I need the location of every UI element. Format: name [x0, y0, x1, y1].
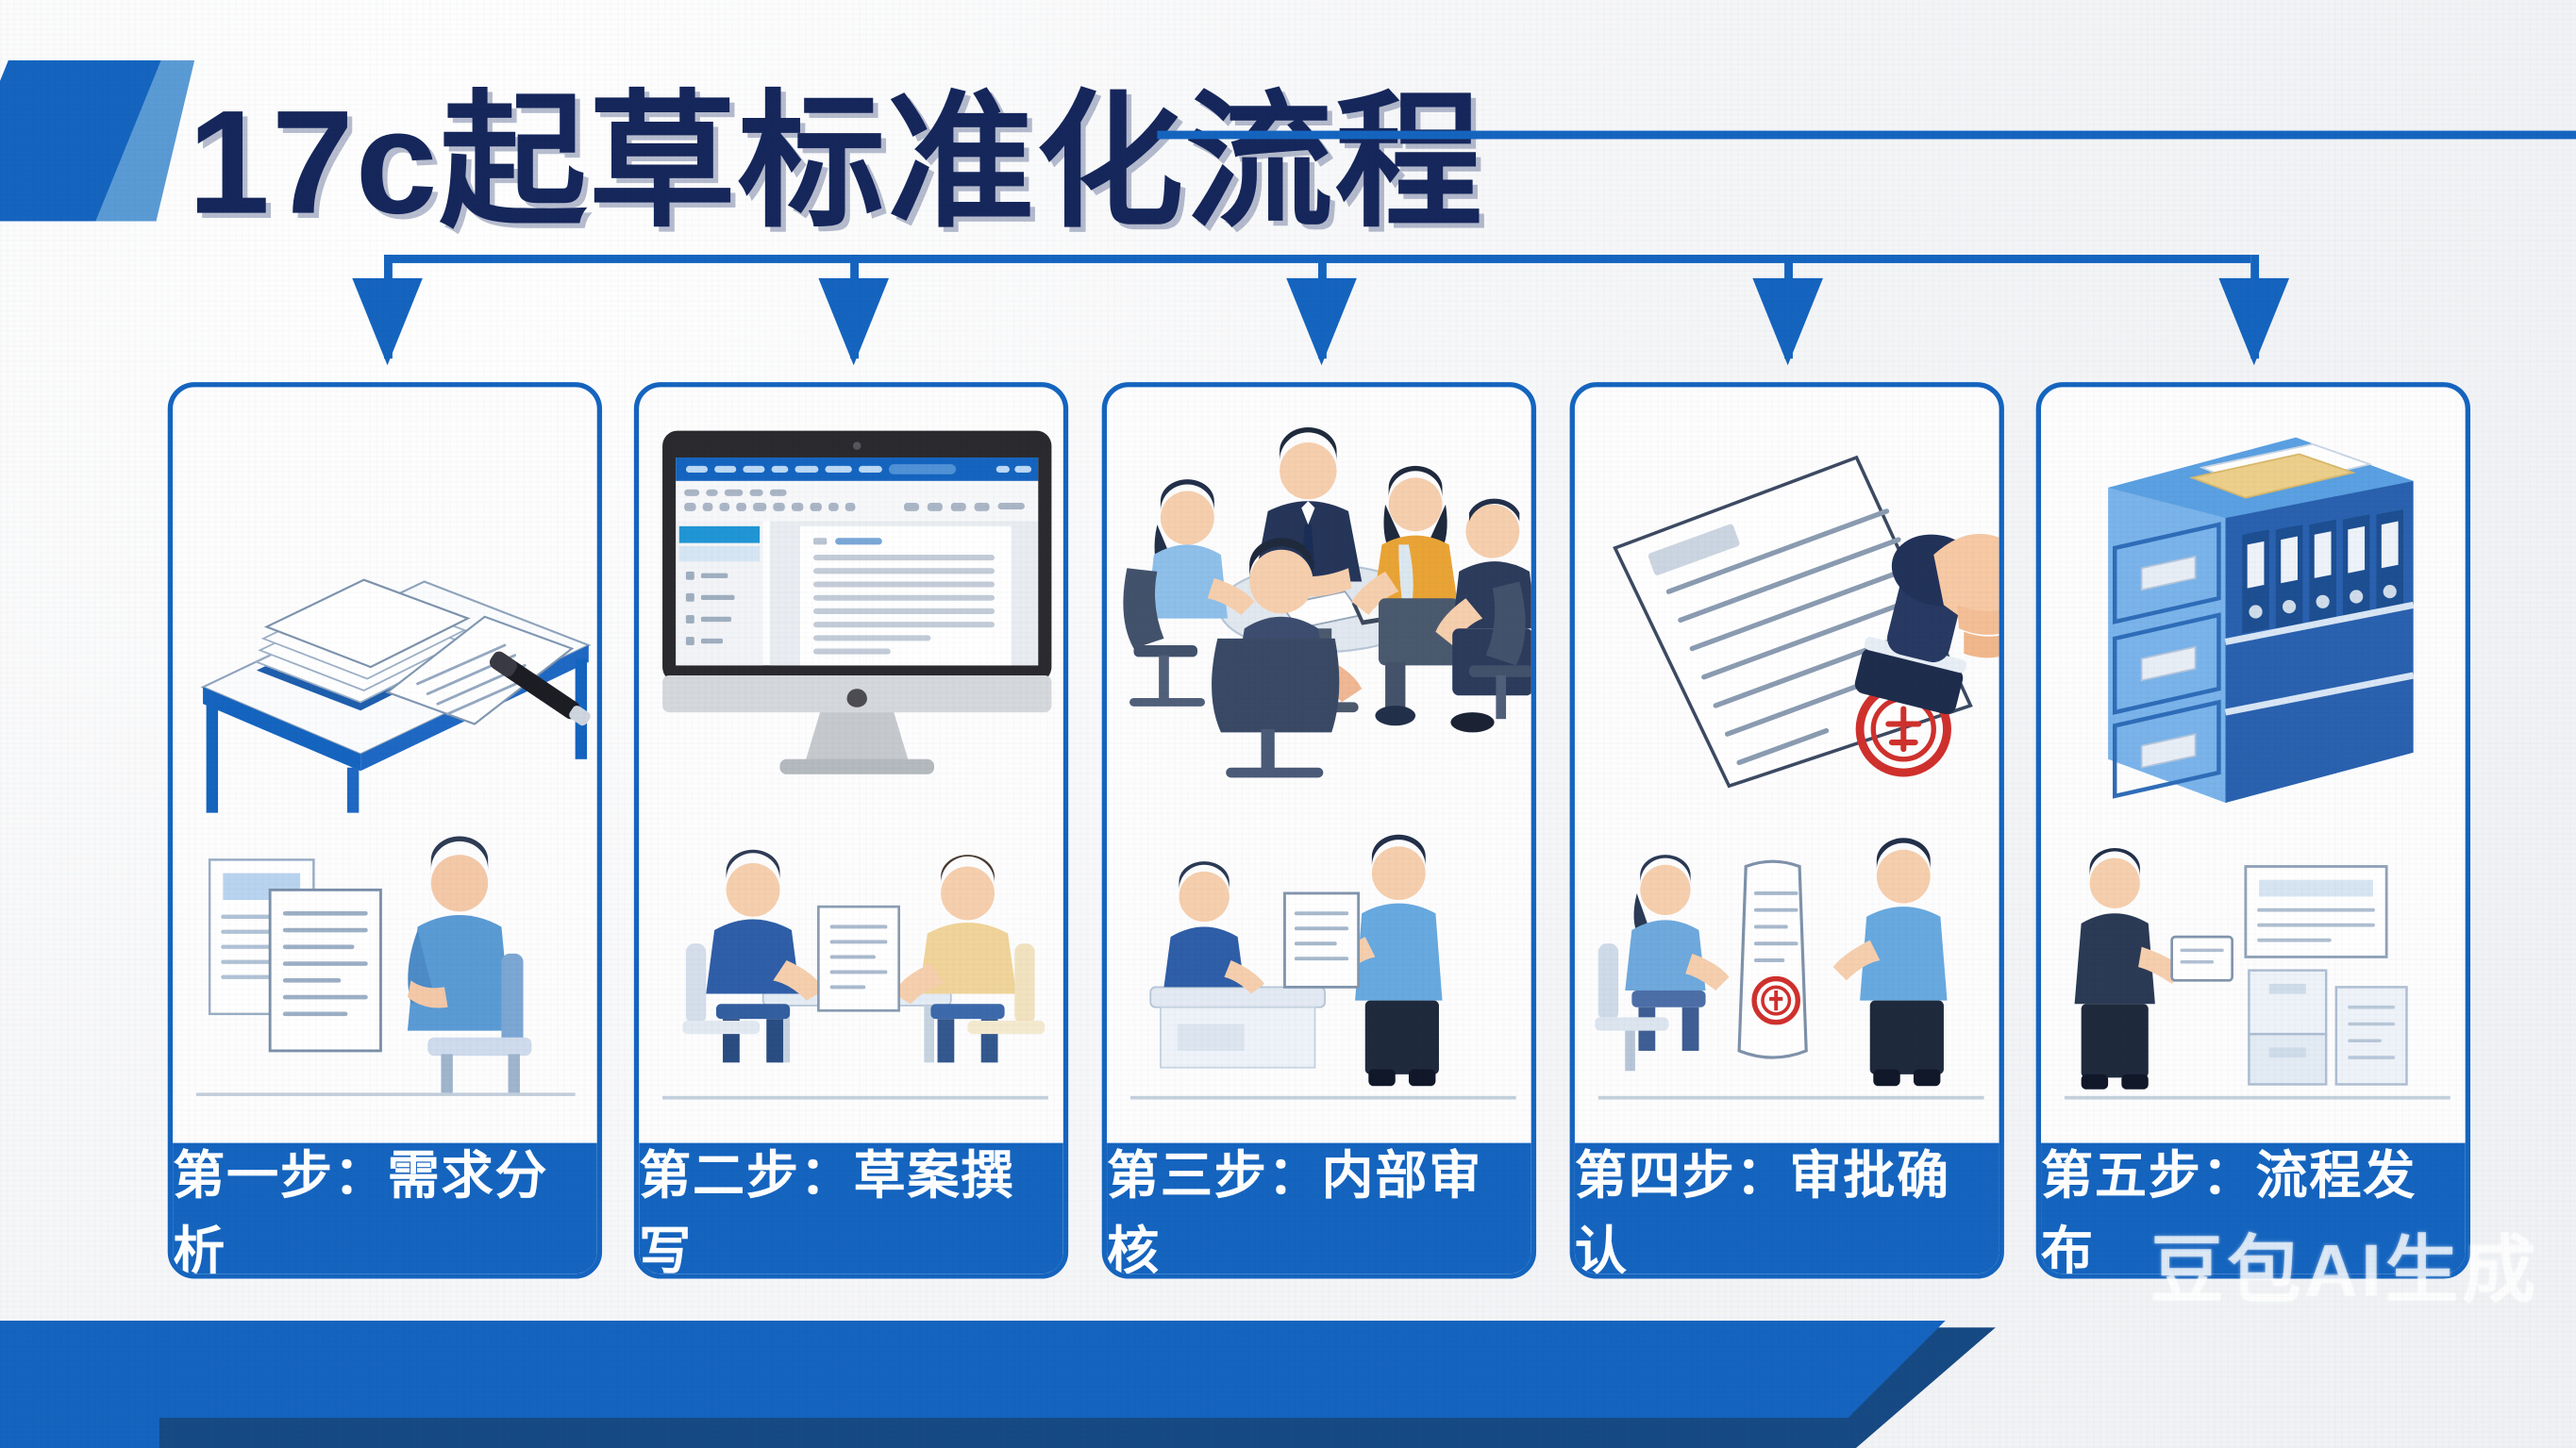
publication-filing-illustration: [2041, 809, 2470, 1144]
flow-arrow-3: [1286, 278, 1357, 365]
footer-left-strip: [0, 1368, 159, 1448]
requirements-review-illustration: [173, 809, 602, 1144]
approval-stamp-illustration: [1575, 394, 2004, 813]
step-1-label: 第一步：需求分析: [173, 1143, 597, 1274]
internal-review-meeting-illustration: [1107, 394, 1536, 813]
step-card-4[interactable]: 第四步：审批确认: [1570, 382, 2004, 1278]
archive-cabinet-illustration: [2041, 394, 2470, 813]
title-underline-rule: [1157, 131, 2576, 140]
step-2-label: 第二步：草案撰写: [639, 1143, 1063, 1274]
step-4-label: 第四步：审批确认: [1575, 1143, 1999, 1274]
watermark: 豆包AI生成: [2150, 1210, 2539, 1318]
flow-arrow-4: [1752, 278, 1823, 365]
step-4-artwork: [1575, 387, 1999, 1142]
documents-desk-illustration: [173, 394, 602, 813]
flow-arrow-2: [818, 278, 889, 365]
drafting-pair-illustration: [639, 809, 1068, 1144]
step-2-artwork: [639, 387, 1063, 1142]
step-card-2[interactable]: 第二步：草案撰写: [634, 382, 1068, 1278]
step-card-3[interactable]: 第三步：内部审核: [1102, 382, 1536, 1278]
step-5-artwork: [2041, 387, 2466, 1142]
approval-signing-illustration: [1575, 809, 2004, 1144]
flow-arrow-1: [352, 278, 423, 365]
footer-band: [0, 1321, 1946, 1418]
step-3-artwork: [1107, 387, 1531, 1142]
slide-canvas: 17c起草标准化流程: [0, 0, 2576, 1448]
computer-drafting-illustration: [639, 394, 1068, 813]
step-card-1[interactable]: 第一步：需求分析: [168, 382, 602, 1278]
step-card-5[interactable]: 第五步：流程发布: [2036, 382, 2470, 1278]
review-handoff-illustration: [1107, 809, 1536, 1144]
page-title: 17c起草标准化流程: [188, 43, 1484, 257]
step-3-label: 第三步：内部审核: [1107, 1143, 1531, 1274]
flow-arrow-5: [2218, 278, 2289, 365]
step-1-artwork: [173, 387, 597, 1142]
